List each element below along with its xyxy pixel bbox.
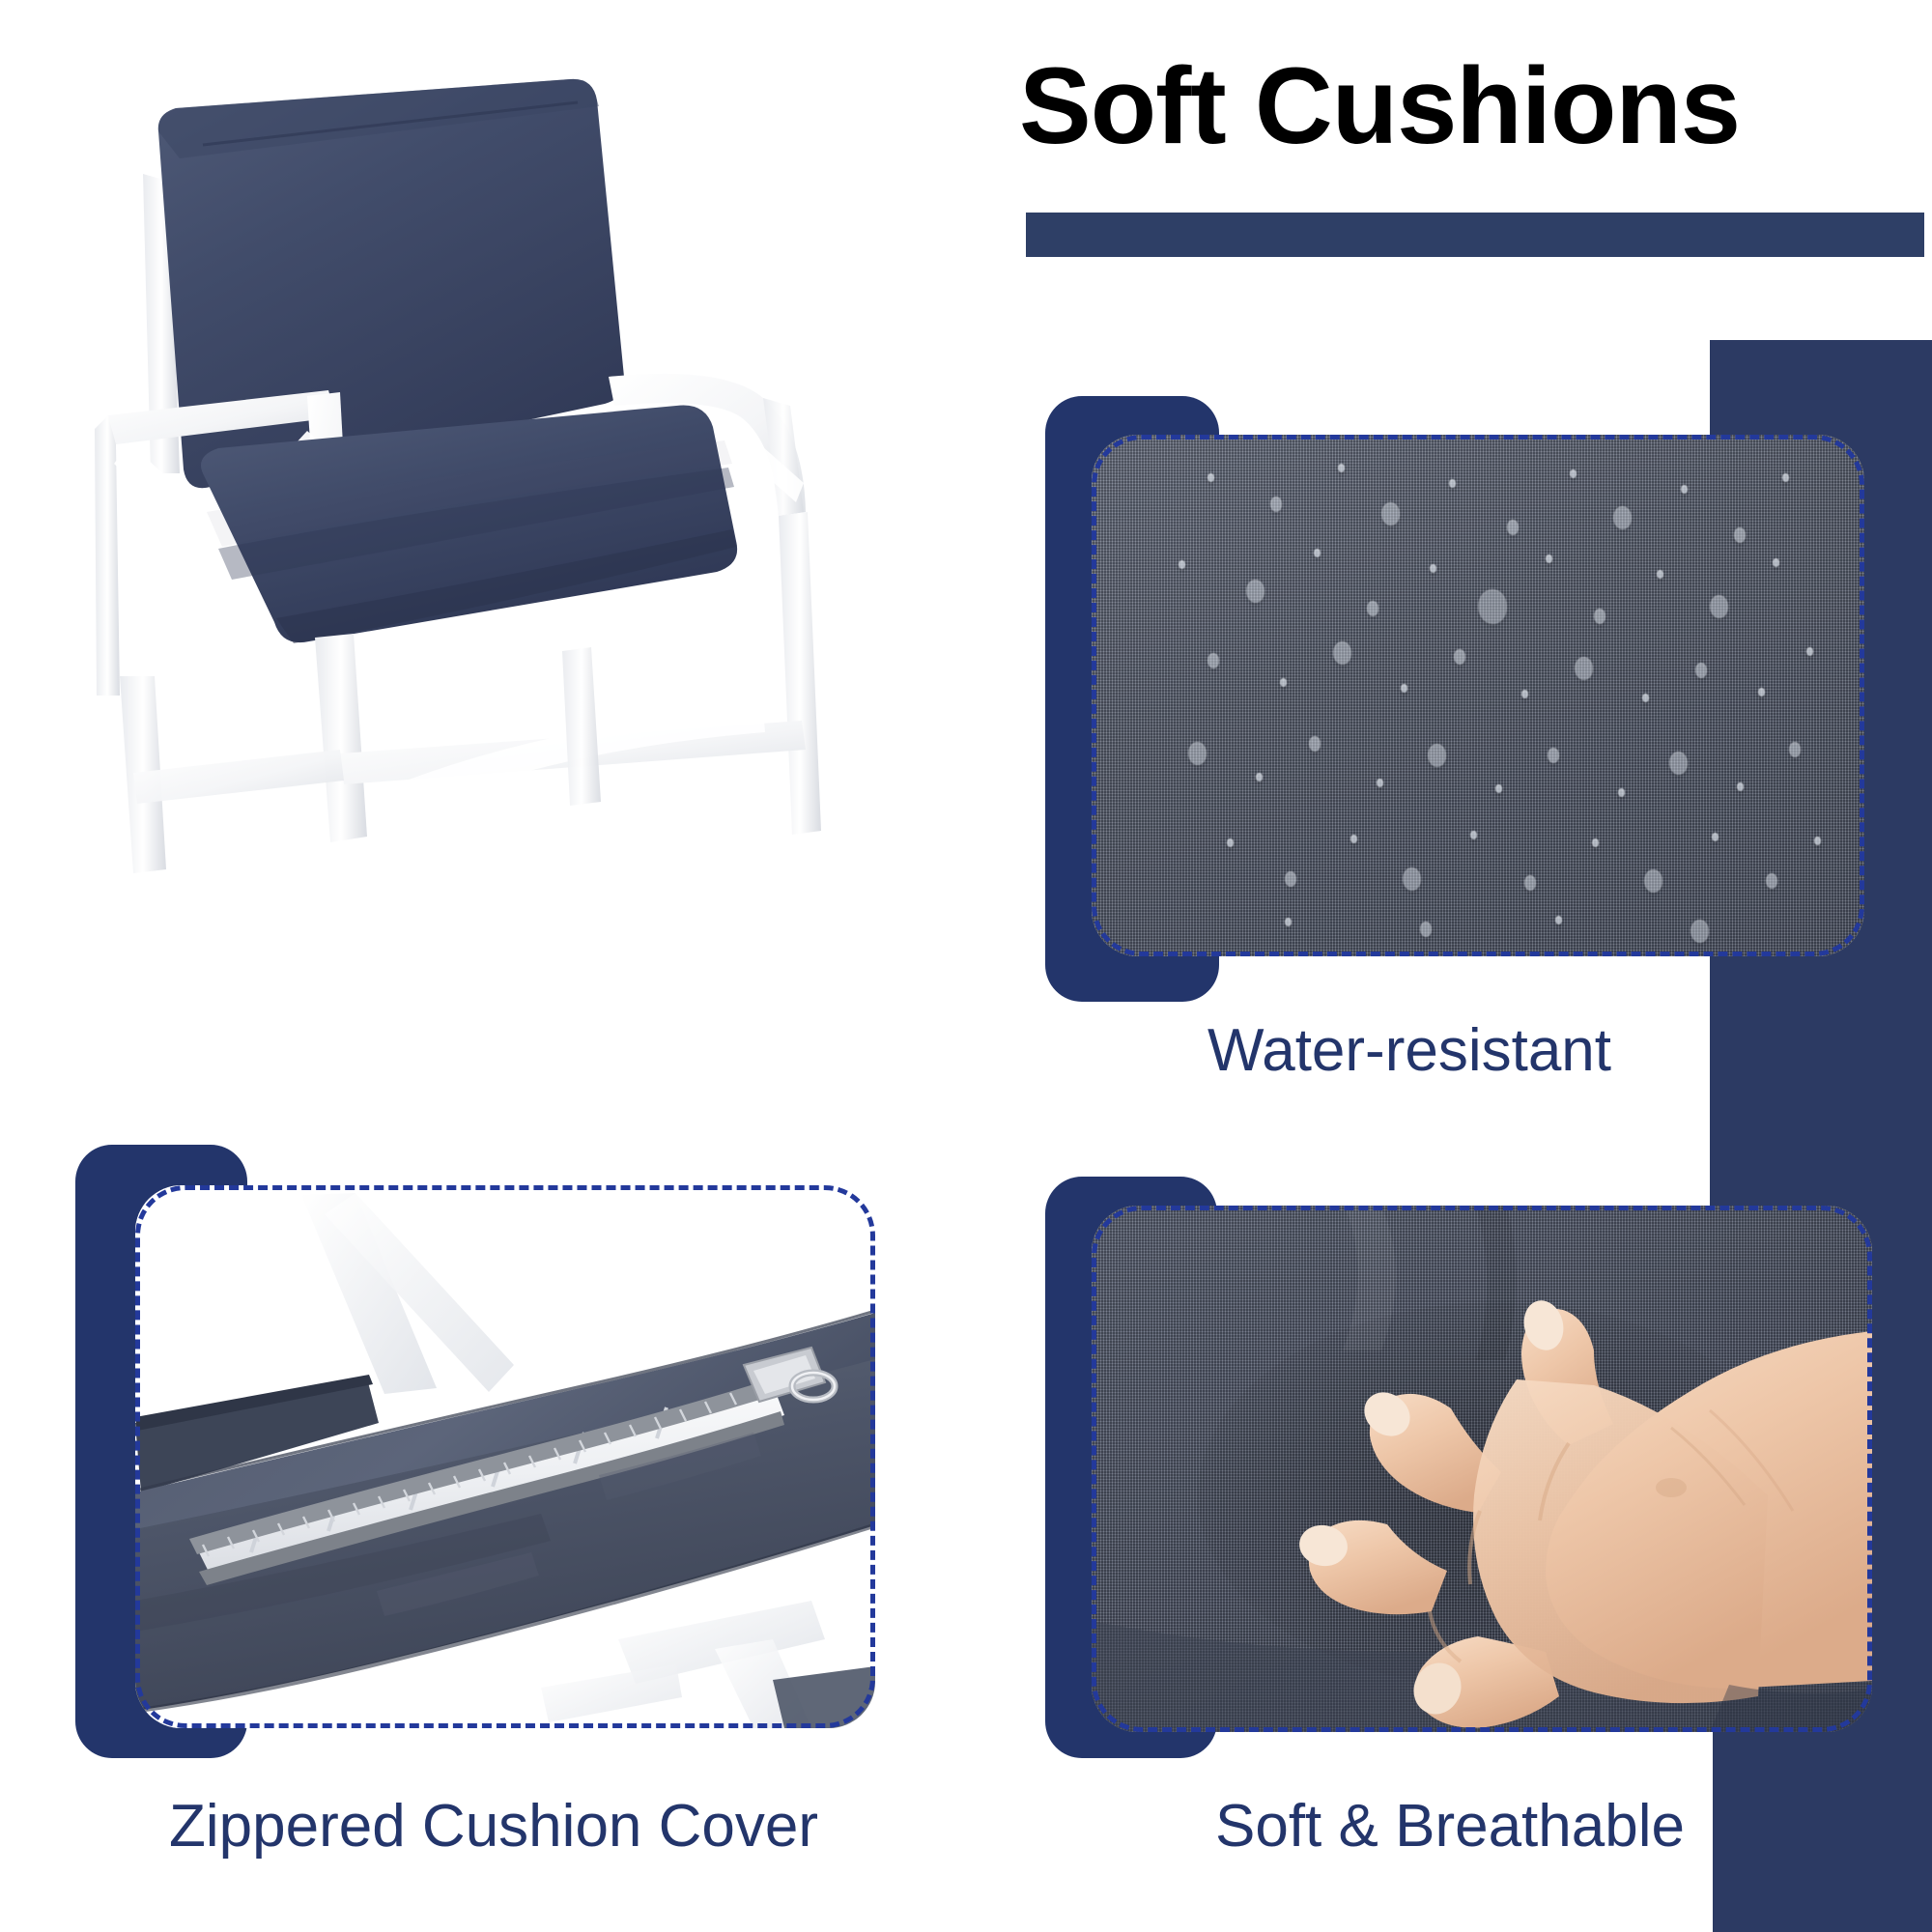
title-underline-rule xyxy=(1026,213,1924,257)
infographic-canvas: Soft Cushions xyxy=(0,0,1932,1932)
caption-zippered-cushion-cover: Zippered Cushion Cover xyxy=(169,1792,818,1861)
panel-dashed-frame xyxy=(1092,435,1864,956)
panel-dashed-frame xyxy=(1092,1206,1872,1732)
panel-dashed-frame xyxy=(135,1185,875,1728)
feature-water-resistant xyxy=(1045,396,1876,1005)
armchair-illustration xyxy=(87,58,937,879)
caption-soft-breathable: Soft & Breathable xyxy=(1215,1792,1685,1861)
caption-water-resistant: Water-resistant xyxy=(1207,1016,1611,1085)
product-hero-photo xyxy=(87,58,937,879)
feature-soft-breathable xyxy=(1045,1177,1876,1761)
page-title: Soft Cushions xyxy=(1019,46,1740,165)
feature-zippered-cover xyxy=(75,1145,906,1763)
